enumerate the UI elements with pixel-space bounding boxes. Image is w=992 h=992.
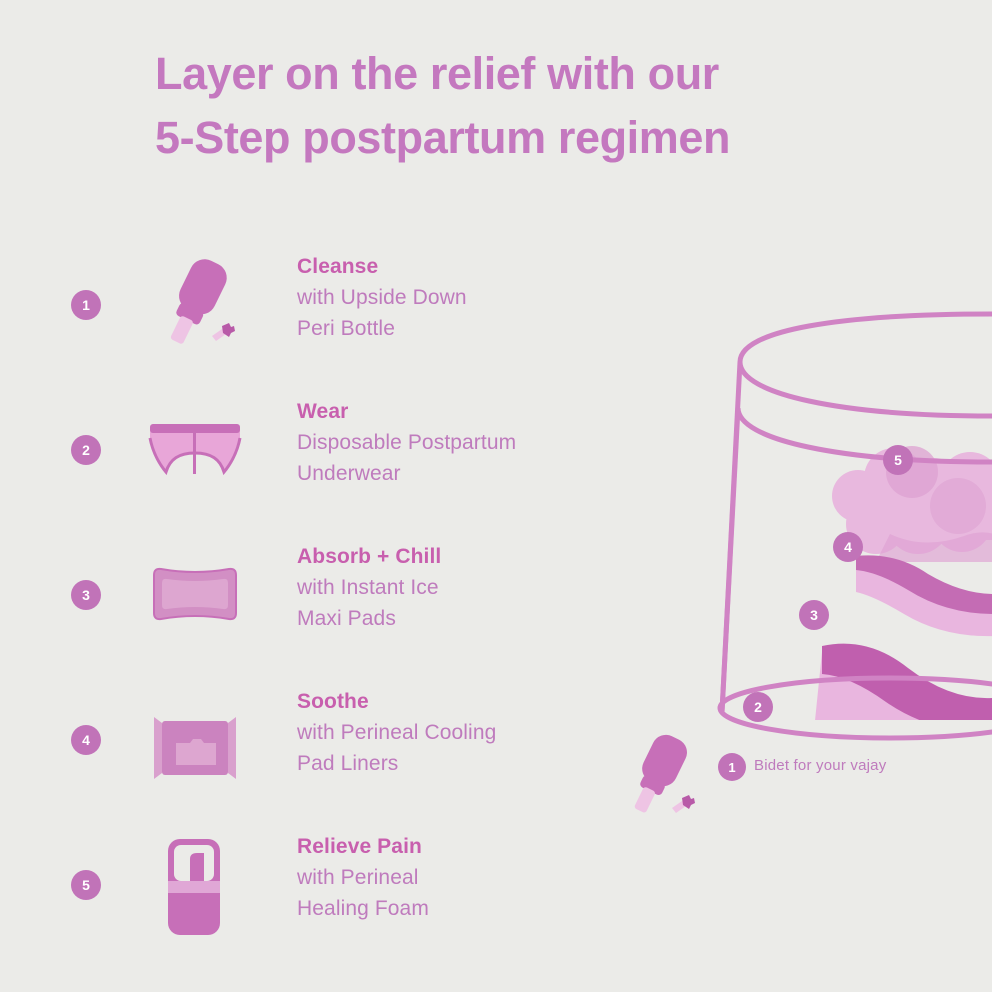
title-line-2: 5-Step postpartum regimen <box>155 106 875 170</box>
caption-text: Bidet for your vajay <box>754 757 886 774</box>
step-item-5: 5 Relieve Pain with Perineal Healing Foa… <box>0 823 640 968</box>
peri-bottle-icon <box>140 248 250 358</box>
infographic-canvas: Layer on the relief with our 5-Step post… <box>0 0 992 992</box>
illustration-badge-3: 3 <box>799 600 829 630</box>
step-desc-4-line-2: Pad Liners <box>297 748 627 779</box>
corner-peri-bottle-icon <box>612 730 722 830</box>
step-desc-1-line-1: with Upside Down <box>297 282 627 313</box>
step-title-2: Wear <box>297 396 627 427</box>
step-desc-2-line-2: Underwear <box>297 458 627 489</box>
step-title-3: Absorb + Chill <box>297 541 627 572</box>
step-desc-2-line-1: Disposable Postpartum <box>297 427 627 458</box>
step-desc-5-line-1: with Perineal <box>297 862 627 893</box>
pad-liner-layer <box>856 555 992 636</box>
step-desc-1-line-2: Peri Bottle <box>297 313 627 344</box>
illustration-badge-4: 4 <box>833 532 863 562</box>
step-badge-2: 2 <box>71 435 101 465</box>
step-title-4: Soothe <box>297 686 627 717</box>
step-item-4: 4 Soothe with Perineal Cooling Pad Liner… <box>0 678 640 823</box>
step-text-1: Cleanse with Upside Down Peri Bottle <box>297 251 627 344</box>
illustration-badge-2: 2 <box>743 692 773 722</box>
step-text-3: Absorb + Chill with Instant Ice Maxi Pad… <box>297 541 627 634</box>
page-title: Layer on the relief with our 5-Step post… <box>155 42 875 170</box>
step-text-2: Wear Disposable Postpartum Underwear <box>297 396 627 489</box>
step-desc-4-line-1: with Perineal Cooling <box>297 717 627 748</box>
step-title-1: Cleanse <box>297 251 627 282</box>
foam-bottle-icon <box>140 831 250 941</box>
step-badge-5: 5 <box>71 870 101 900</box>
illustration-badge-5: 5 <box>883 445 913 475</box>
maxi-pad-icon <box>140 553 250 663</box>
step-item-1: 1 Cleanse with Upside Down Peri Bottle <box>0 243 640 388</box>
step-badge-3: 3 <box>71 580 101 610</box>
step-badge-4: 4 <box>71 725 101 755</box>
step-text-4: Soothe with Perineal Cooling Pad Liners <box>297 686 627 779</box>
underwear-icon <box>140 398 250 508</box>
step-item-3: 3 Absorb + Chill with Instant Ice Maxi P… <box>0 533 640 678</box>
step-item-2: 2 Wear Disposable Postpartum Underwear <box>0 388 640 533</box>
caption-badge-1: 1 <box>718 753 746 781</box>
title-line-1: Layer on the relief with our <box>155 42 875 106</box>
step-title-5: Relieve Pain <box>297 831 627 862</box>
steps-list: 1 Cleanse with Upside Down Peri Bottle <box>0 243 640 968</box>
step-desc-5-line-2: Healing Foam <box>297 893 627 924</box>
pad-liner-pack-icon <box>140 693 250 803</box>
step-badge-1: 1 <box>71 290 101 320</box>
step-text-5: Relieve Pain with Perineal Healing Foam <box>297 831 627 924</box>
step-desc-3-line-2: Maxi Pads <box>297 603 627 634</box>
step-desc-3-line-1: with Instant Ice <box>297 572 627 603</box>
